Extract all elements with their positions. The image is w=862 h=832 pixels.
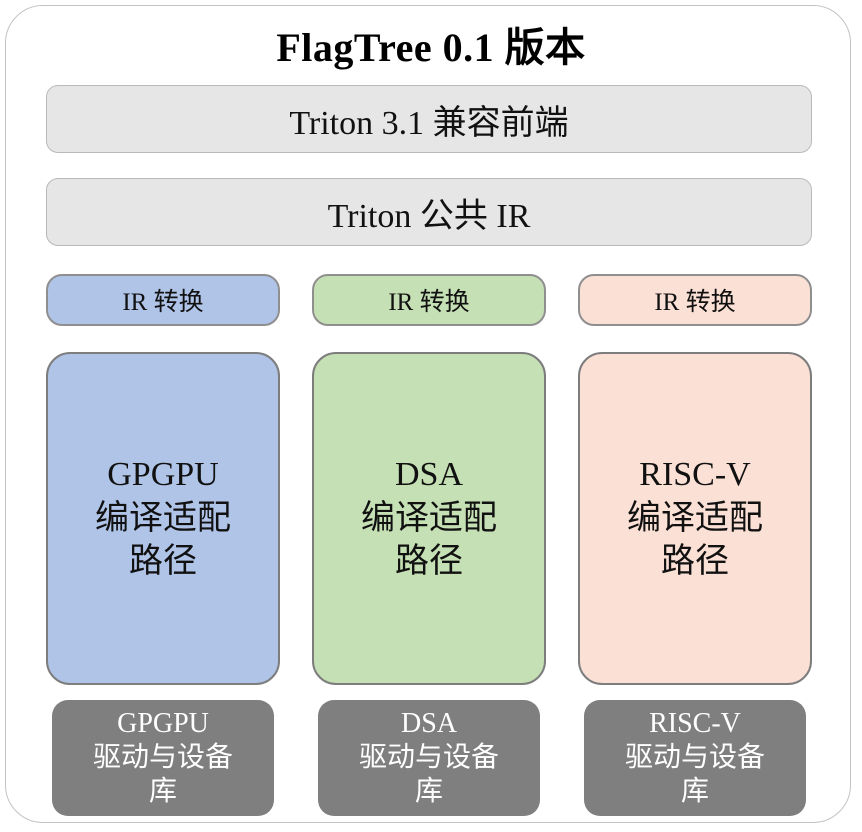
- ir-conversion-label: IR 转换: [388, 282, 469, 318]
- compile-path-line-2: 编译适配: [627, 497, 763, 541]
- compile-path-line-3: 路径: [129, 540, 197, 584]
- ir-conversion-chip-dsa: IR 转换: [312, 274, 546, 326]
- driver-line-2: 驱动与设备: [359, 741, 499, 775]
- driver-line-3: 库: [149, 775, 177, 809]
- compile-path-line-1: RISC-V: [639, 453, 750, 497]
- flagtree-architecture-diagram: FlagTree 0.1 版本 Triton 3.1 兼容前端 Triton 公…: [0, 0, 862, 832]
- column-riscv: IR 转换 RISC-V 编译适配 路径 RISC-V 驱动与设备 库: [578, 0, 812, 832]
- driver-line-3: 库: [681, 775, 709, 809]
- compile-path-box-gpgpu: GPGPU 编译适配 路径: [46, 352, 280, 685]
- compile-path-line-1: GPGPU: [107, 453, 218, 497]
- ir-conversion-label: IR 转换: [654, 282, 735, 318]
- ir-conversion-label: IR 转换: [122, 282, 203, 318]
- driver-line-1: RISC-V: [649, 707, 741, 741]
- driver-line-2: 驱动与设备: [625, 741, 765, 775]
- driver-line-1: DSA: [401, 707, 457, 741]
- driver-box-riscv: RISC-V 驱动与设备 库: [584, 700, 806, 816]
- ir-conversion-chip-gpgpu: IR 转换: [46, 274, 280, 326]
- driver-box-gpgpu: GPGPU 驱动与设备 库: [52, 700, 274, 816]
- ir-conversion-chip-riscv: IR 转换: [578, 274, 812, 326]
- compile-path-line-3: 路径: [661, 540, 729, 584]
- compile-path-box-dsa: DSA 编译适配 路径: [312, 352, 546, 685]
- driver-line-3: 库: [415, 775, 443, 809]
- compile-path-line-3: 路径: [395, 540, 463, 584]
- driver-line-1: GPGPU: [117, 707, 209, 741]
- compile-path-line-1: DSA: [395, 453, 463, 497]
- compile-path-line-2: 编译适配: [95, 497, 231, 541]
- driver-line-2: 驱动与设备: [93, 741, 233, 775]
- compile-path-box-riscv: RISC-V 编译适配 路径: [578, 352, 812, 685]
- compile-path-line-2: 编译适配: [361, 497, 497, 541]
- driver-box-dsa: DSA 驱动与设备 库: [318, 700, 540, 816]
- column-dsa: IR 转换 DSA 编译适配 路径 DSA 驱动与设备 库: [312, 0, 546, 832]
- backend-columns: IR 转换 GPGPU 编译适配 路径 GPGPU 驱动与设备 库 IR 转换 …: [0, 0, 862, 832]
- column-gpgpu: IR 转换 GPGPU 编译适配 路径 GPGPU 驱动与设备 库: [46, 0, 280, 832]
